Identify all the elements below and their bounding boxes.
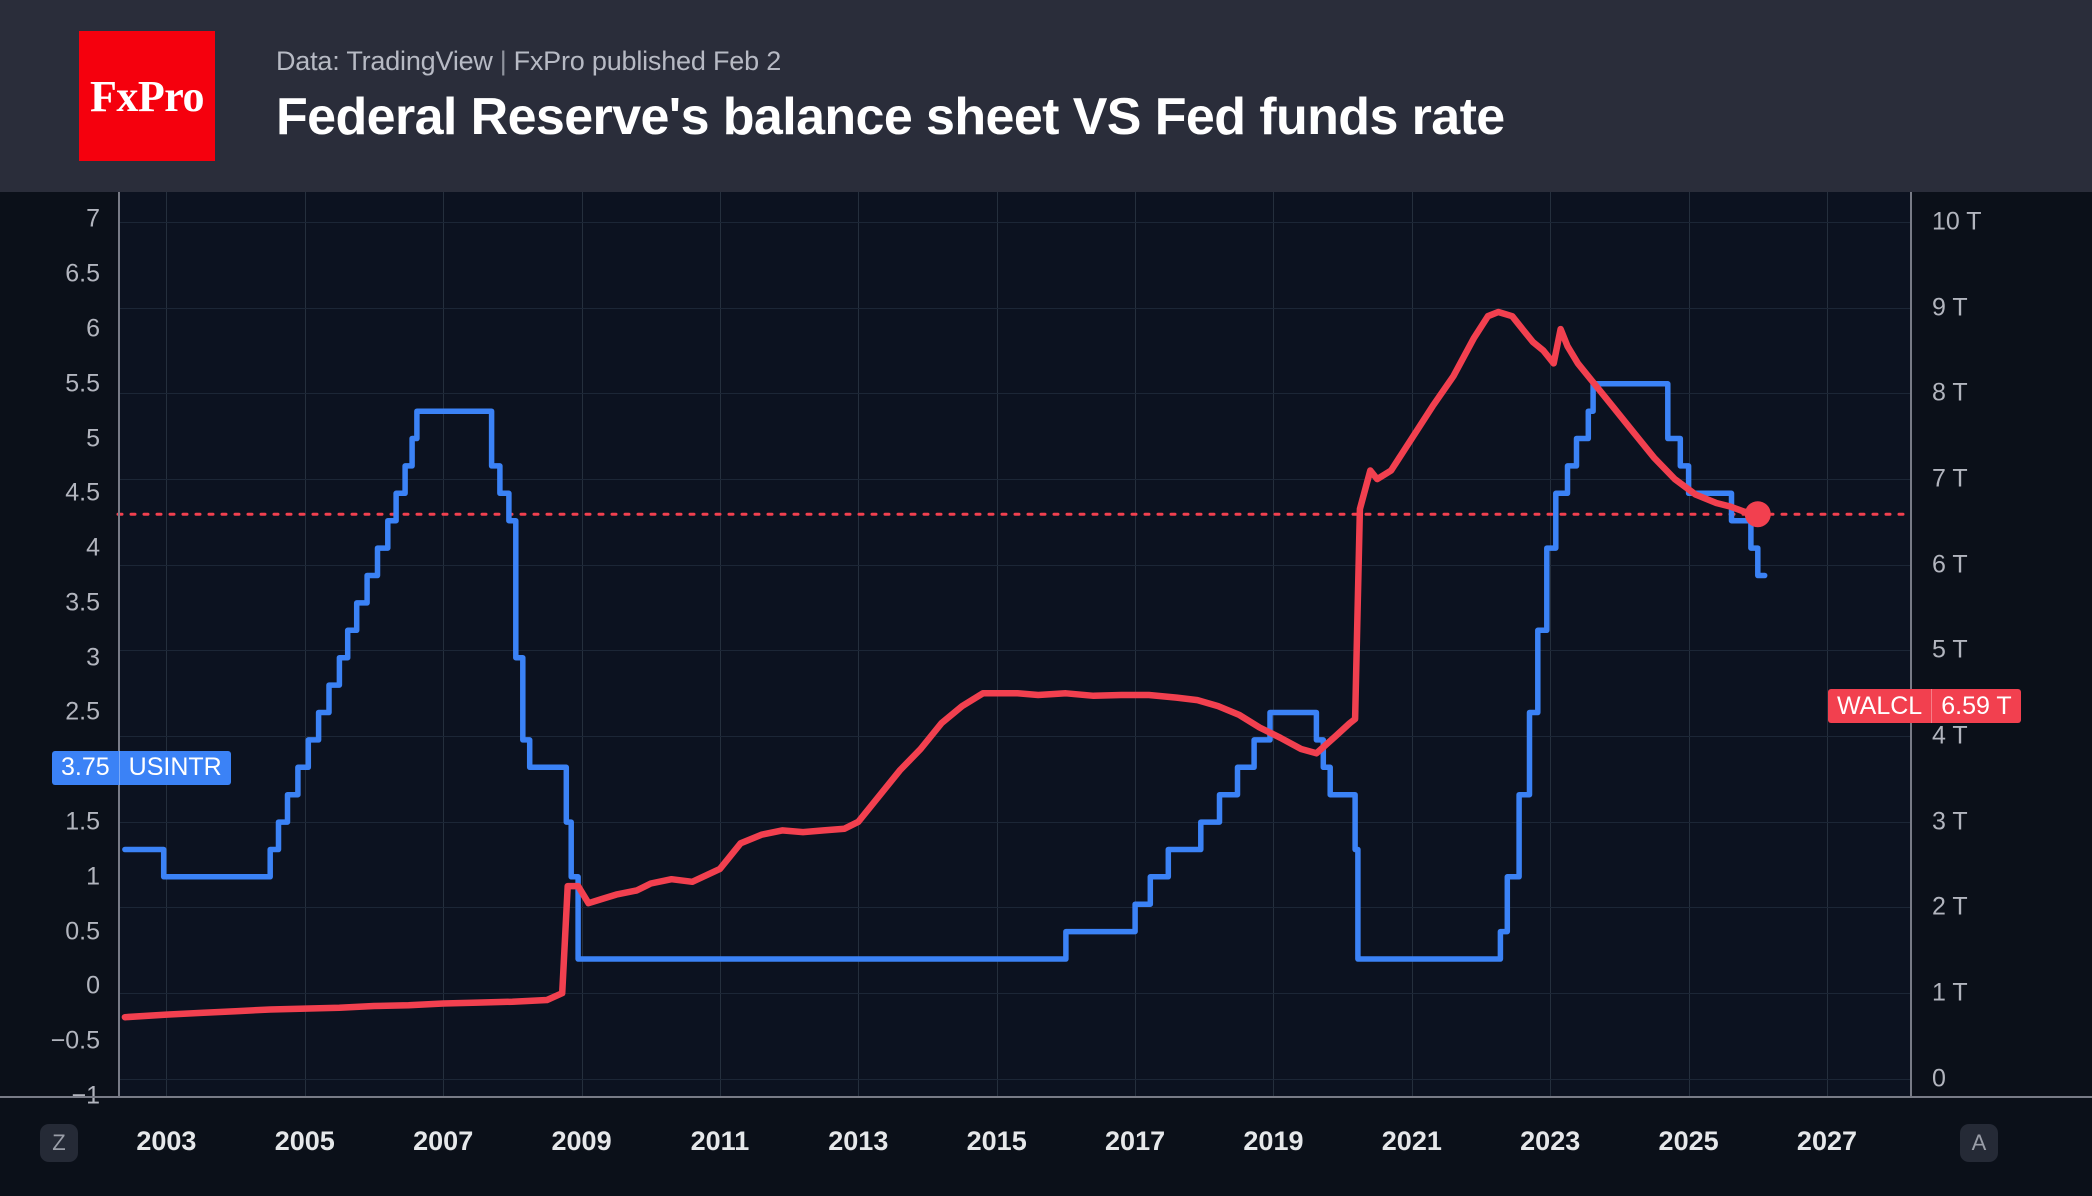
publisher-label: FxPro published Feb 2 [514,46,781,76]
fxpro-logo: FxPro [79,31,215,161]
x-axis-tick: 2019 [1243,1126,1303,1157]
walcl-badge-name: WALCL [1828,692,1931,721]
left-axis-tick: 2.5 [8,698,118,727]
left-axis-tick: 4 [8,534,118,563]
logo-text: FxPro [90,71,204,122]
chart-area: 76.565.554.543.532.521.510.50−0.5−1 10 T… [0,192,2092,1196]
left-axis-tick: 1.5 [8,808,118,837]
chart-screenshot: FxPro Data: TradingView|FxPro published … [0,0,2092,1196]
series-svg [118,192,1910,1096]
walcl-value-badge[interactable]: WALCL 6.59 T [1828,689,2021,723]
right-axis-tick: 7 T [1912,465,2092,494]
right-axis-tick: 5 T [1912,636,2092,665]
x-axis[interactable]: 2003200520072009201120132015201720192021… [0,1098,2092,1196]
auto-scale-badge[interactable]: A [1960,1124,1998,1162]
left-axis-tick: 5 [8,424,118,453]
x-axis-tick: 2005 [275,1126,335,1157]
right-axis-tick: 0 [1912,1064,2092,1093]
x-axis-tick: 2021 [1382,1126,1442,1157]
right-axis-tick: 8 T [1912,379,2092,408]
subtitle-separator: | [500,46,507,76]
x-axis-tick: 2007 [413,1126,473,1157]
right-axis-tick: 9 T [1912,293,2092,322]
right-axis-tick: 1 T [1912,979,2092,1008]
left-axis-tick: −0.5 [8,1027,118,1056]
subtitle-line: Data: TradingView|FxPro published Feb 2 [276,46,1505,77]
right-axis-tick: 4 T [1912,722,2092,751]
x-axis-tick: 2027 [1797,1126,1857,1157]
left-axis-tick: 0 [8,972,118,1001]
left-axis-tick: 6 [8,314,118,343]
header-bar: FxPro Data: TradingView|FxPro published … [0,0,2092,192]
left-axis-tick: 5.5 [8,369,118,398]
right-axis-line [1910,192,1912,1096]
page-title: Federal Reserve's balance sheet VS Fed f… [276,87,1505,147]
walcl-line [125,312,1758,1017]
left-axis-tick: 6.5 [8,260,118,289]
usintr-badge-value: 3.75 [52,753,119,782]
header-text-block: Data: TradingView|FxPro published Feb 2 … [276,46,1505,147]
left-axis[interactable]: 76.565.554.543.532.521.510.50−0.5−1 [0,192,118,1096]
plot-canvas [118,192,1910,1096]
x-axis-tick: 2011 [691,1126,750,1157]
walcl-badge-value: 6.59 T [1932,692,2020,721]
right-axis-tick: 10 T [1912,207,2092,236]
left-axis-tick: 3.5 [8,588,118,617]
right-axis-tick: 2 T [1912,893,2092,922]
x-axis-tick: 2017 [1105,1126,1165,1157]
right-axis-tick: 6 T [1912,550,2092,579]
left-axis-tick: 4.5 [8,479,118,508]
x-axis-tick: 2003 [136,1126,196,1157]
x-axis-tick: 2023 [1520,1126,1580,1157]
right-axis[interactable]: 10 T9 T8 T7 T6 T5 T4 T3 T2 T1 T0 [1912,192,2092,1096]
usintr-badge-name: USINTR [120,753,231,782]
left-axis-tick: 0.5 [8,917,118,946]
walcl-end-marker-dot [1745,501,1771,527]
x-axis-tick: 2009 [552,1126,612,1157]
data-source-label: Data: TradingView [276,46,493,76]
x-axis-tick: 2015 [967,1126,1027,1157]
left-axis-line [118,192,120,1096]
usintr-value-badge[interactable]: 3.75 USINTR [52,751,231,785]
x-axis-tick: 2025 [1659,1126,1719,1157]
timezone-badge[interactable]: Z [40,1124,78,1162]
usintr-line [125,384,1765,959]
left-axis-tick: 1 [8,862,118,891]
left-axis-tick: 3 [8,643,118,672]
left-axis-tick: 7 [8,205,118,234]
x-axis-tick: 2013 [828,1126,888,1157]
right-axis-tick: 3 T [1912,807,2092,836]
